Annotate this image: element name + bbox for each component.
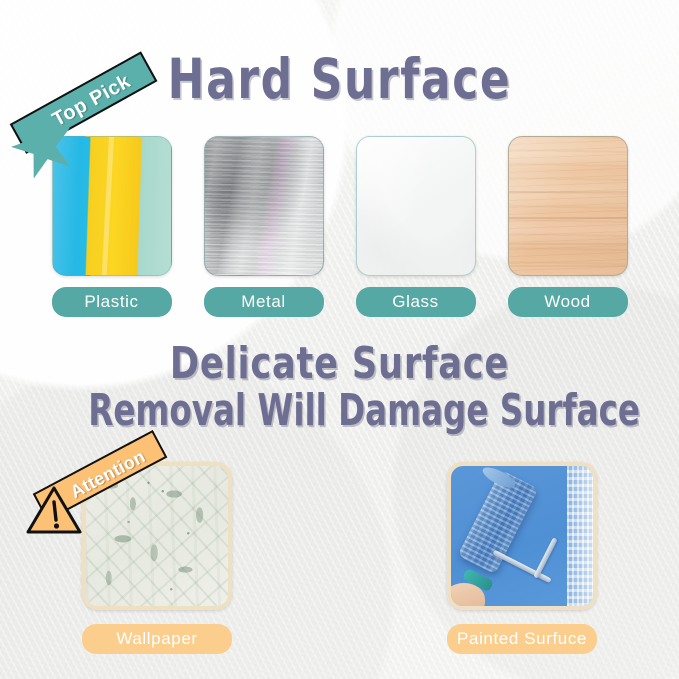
wood-swatch — [508, 136, 628, 276]
surface-card-painted-surface[interactable]: Painted Surfuce — [447, 462, 597, 654]
surface-label-plastic: Plastic — [52, 287, 172, 317]
page-subtitle-removal-warning: Removal Will Damage Surface — [88, 386, 590, 436]
surface-card-metal[interactable]: Metal — [204, 136, 324, 317]
hard-surface-card-row: Plastic Metal Glass Wood — [0, 136, 679, 317]
page-title-delicate-surface: Delicate Surface — [68, 339, 611, 389]
surface-card-glass[interactable]: Glass — [356, 136, 476, 317]
surface-label-wallpaper: Wallpaper — [82, 624, 232, 654]
surface-card-wallpaper[interactable]: Wallpaper — [82, 462, 232, 654]
wall-edge-texture — [567, 466, 593, 606]
glass-swatch — [356, 136, 476, 276]
paint-roller-icon — [457, 470, 538, 575]
painted-surface-swatch — [447, 462, 597, 610]
page-title-hard-surface: Hard Surface — [68, 48, 611, 110]
infographic-poster: Hard Surface Plastic Metal Glass Wood To… — [0, 0, 679, 679]
paint-roller-bend — [533, 537, 557, 578]
delicate-surface-card-row: Wallpaper Painted Surfuce — [0, 462, 679, 654]
surface-label-glass: Glass — [356, 287, 476, 317]
surface-label-metal: Metal — [204, 287, 324, 317]
hand-icon — [447, 583, 485, 610]
wallpaper-swatch — [82, 462, 232, 610]
surface-card-wood[interactable]: Wood — [508, 136, 628, 317]
plastic-swatch — [52, 136, 172, 276]
surface-card-plastic[interactable]: Plastic — [52, 136, 172, 317]
damask-pattern — [86, 466, 228, 606]
surface-label-painted-surface: Painted Surfuce — [447, 624, 597, 654]
surface-label-wood: Wood — [508, 287, 628, 317]
metal-swatch — [204, 136, 324, 276]
